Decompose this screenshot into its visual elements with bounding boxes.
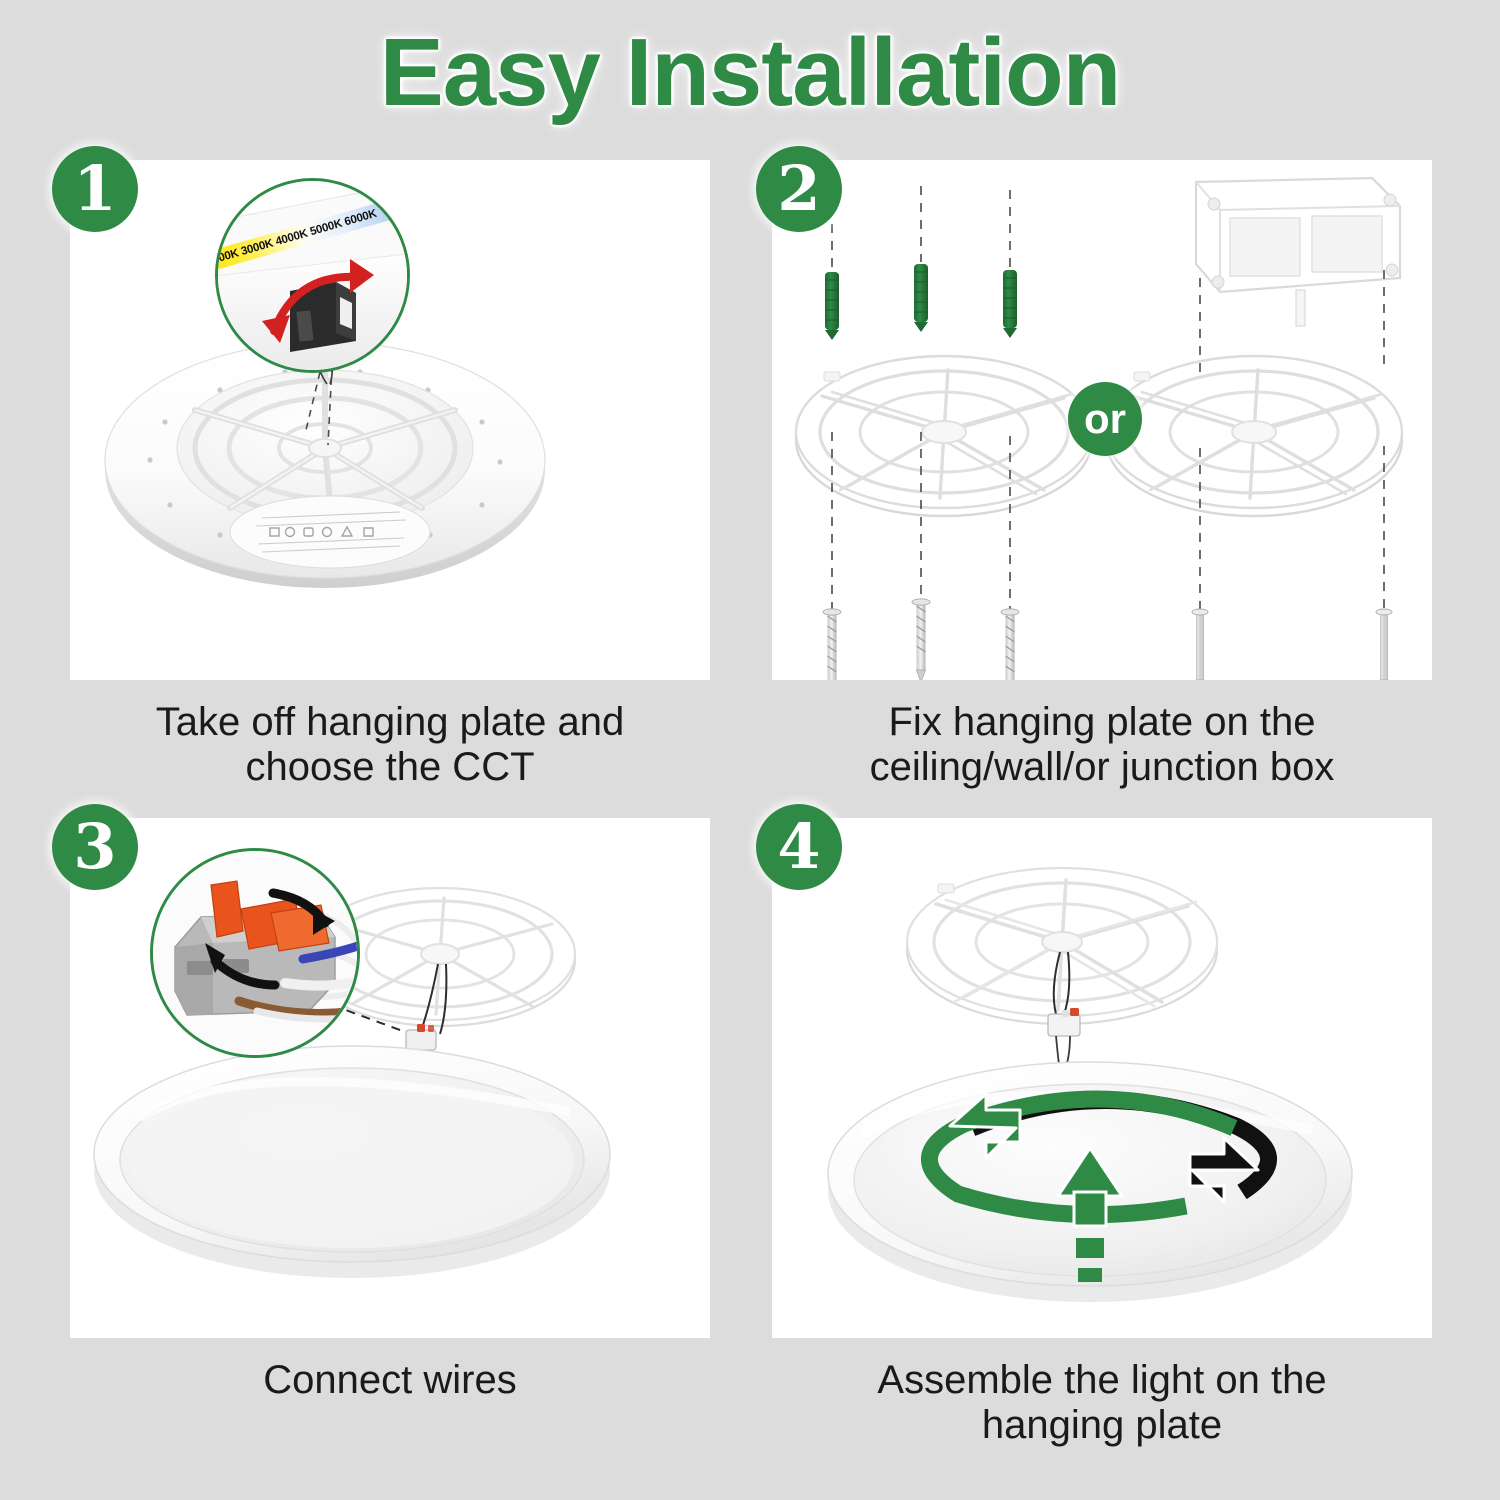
or-badge: or xyxy=(1068,382,1142,456)
lever-connector-artwork xyxy=(153,851,360,1058)
step-3-badge: 3 xyxy=(52,804,138,890)
step-1-caption: Take off hanging plate and choose the CC… xyxy=(70,700,710,790)
wall-anchors-left xyxy=(825,264,1017,340)
hanging-plate-step4 xyxy=(907,868,1217,1024)
step-3-illustration xyxy=(70,818,710,1338)
step-2-badge: 2 xyxy=(756,146,842,232)
step-2-panel: or xyxy=(772,160,1432,680)
step-4-badge: 4 xyxy=(756,804,842,890)
wire-connector-zoom-circle xyxy=(150,848,360,1058)
installation-guide-page: Easy Installation xyxy=(0,0,1500,1500)
hanging-plate-left xyxy=(796,356,1092,516)
step-3-panel xyxy=(70,818,710,1338)
step-4-artwork xyxy=(772,818,1432,1338)
product-label xyxy=(230,496,430,568)
mounting-screws-left xyxy=(823,599,1019,680)
step-3-caption: Connect wires xyxy=(70,1358,710,1403)
step-1-panel: 2700K 3000K 4000K 5000K 6000K xyxy=(70,160,710,680)
hanging-plate-right xyxy=(1106,356,1402,516)
page-title: Easy Installation xyxy=(0,18,1500,128)
step-4-caption-line2: hanging plate xyxy=(760,1403,1444,1448)
cct-rotate-arrows xyxy=(218,181,410,373)
step-2-caption: Fix hanging plate on the ceiling/wall/or… xyxy=(760,700,1444,790)
cct-zoom-circle: 2700K 3000K 4000K 5000K 6000K xyxy=(215,178,410,373)
step-1-badge: 1 xyxy=(52,146,138,232)
junction-box xyxy=(1196,178,1400,326)
step-4-caption-line1: Assemble the light on the xyxy=(760,1358,1444,1403)
step-2-caption-line1: Fix hanging plate on the xyxy=(760,700,1444,745)
machine-screws-right xyxy=(1189,609,1395,680)
step-4-illustration xyxy=(772,818,1432,1338)
step-2-illustration: or xyxy=(772,160,1432,680)
step-4-panel xyxy=(772,818,1432,1338)
step-1-caption-line1: Take off hanging plate and xyxy=(70,700,710,745)
ceiling-light-back xyxy=(105,342,545,588)
step-1-caption-line2: choose the CCT xyxy=(70,745,710,790)
step-3-caption-line1: Connect wires xyxy=(70,1358,710,1403)
step-4-caption: Assemble the light on the hanging plate xyxy=(760,1358,1444,1448)
step-2-caption-line2: ceiling/wall/or junction box xyxy=(760,745,1444,790)
led-disc-light xyxy=(94,1046,610,1278)
step-1-illustration: 2700K 3000K 4000K 5000K 6000K xyxy=(70,160,710,680)
